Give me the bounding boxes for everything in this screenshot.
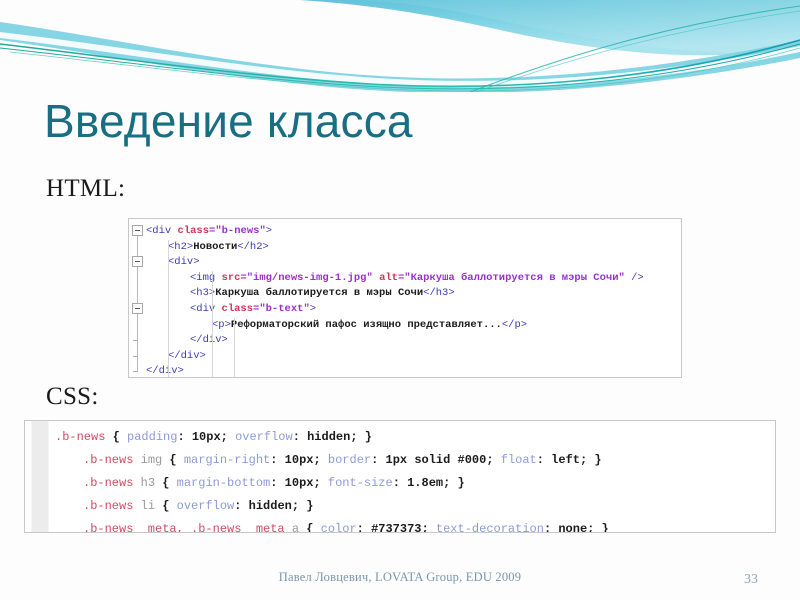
code-token-prop: color <box>321 522 357 533</box>
code-token-brace: ; } <box>292 499 314 513</box>
code-line: <div class="b-news"> <box>146 224 681 240</box>
code-token-tag: </div> <box>190 334 228 346</box>
code-token-sel: .b-news <box>55 430 105 444</box>
css-gutter-strip <box>25 421 55 532</box>
fold-toggle-icon[interactable] <box>132 225 143 236</box>
fold-tick <box>133 371 138 372</box>
fold-toggle-icon[interactable] <box>132 303 143 314</box>
slide-number: 33 <box>744 572 758 588</box>
code-token-brace: { <box>155 499 177 513</box>
code-token-brace: ; } <box>580 453 602 467</box>
code-token-prop: text-decoration <box>436 522 544 533</box>
code-token-brace: ; } <box>443 476 465 490</box>
code-line: <h3>Каркуша баллотируется в мэры Сочи</h… <box>146 286 681 302</box>
indent-guide <box>212 271 213 378</box>
code-token-tag: </h2> <box>237 241 269 253</box>
code-token-prop: font-size <box>328 476 393 490</box>
code-token-tag: <h2> <box>168 241 193 253</box>
code-token-brace: ; } <box>587 522 609 533</box>
code-token-prop: border <box>328 453 371 467</box>
code-token-text: Каркуша баллотируется в мэры Сочи <box>215 287 423 299</box>
code-token-tag: </div> <box>146 365 184 377</box>
html-section-label: HTML: <box>46 175 125 203</box>
code-token-attr: class <box>178 225 210 237</box>
code-line: <p>Реформаторский пафос изящно представл… <box>146 318 681 334</box>
code-token-elem: img <box>133 453 162 467</box>
code-token-brace: { <box>105 430 127 444</box>
code-token-value: 1px solid #000 <box>386 453 487 467</box>
code-token-value: 10px <box>285 453 314 467</box>
code-token-sel: .b-news <box>83 453 133 467</box>
code-token-value: 10px <box>192 430 221 444</box>
code-token-brace: { <box>155 476 177 490</box>
css-code-lines: .b-news { padding: 10px; overflow: hidde… <box>55 421 775 532</box>
code-token-tag: <img <box>190 272 222 284</box>
code-line: <div class="b-text"> <box>146 302 681 318</box>
fold-connector-line <box>137 230 138 372</box>
indent-guide <box>234 318 235 378</box>
code-line: <div> <box>146 255 681 271</box>
html-fold-gutter[interactable] <box>129 219 146 377</box>
code-token-tag: <div> <box>168 256 200 268</box>
css-code-block[interactable]: .b-news { padding: 10px; overflow: hidde… <box>24 420 776 533</box>
code-token-brace: : <box>371 453 385 467</box>
code-token-brace: : <box>234 499 248 513</box>
code-token-value: 10px <box>285 476 314 490</box>
code-token-elem: a <box>285 522 299 533</box>
code-token-sel: .b-news <box>83 499 133 513</box>
code-token-val: ="Каркуша баллотируется в мэры Сочи" <box>398 272 625 284</box>
code-token-brace: { <box>299 522 321 533</box>
css-section-label: CSS: <box>46 383 99 411</box>
code-line: <h2>Новости</h2> <box>146 240 681 256</box>
code-token-tag: <div <box>190 303 222 315</box>
code-token-value: hidden <box>249 499 292 513</box>
fold-tick <box>133 340 138 341</box>
code-token-brace: : <box>357 522 371 533</box>
code-token-value: none <box>558 522 587 533</box>
code-token-tag: </div> <box>168 350 206 362</box>
code-token-tag: <p> <box>212 319 231 331</box>
code-token-value: 1.8em <box>407 476 443 490</box>
code-line: </div> <box>146 349 681 365</box>
code-token-brace: ; <box>313 453 327 467</box>
code-token-prop: overflow <box>235 430 293 444</box>
fold-toggle-icon[interactable] <box>132 256 143 267</box>
html-code-lines: <div class="b-news"><h2>Новости</h2><div… <box>146 219 681 377</box>
code-token-brace: : <box>293 430 307 444</box>
page-title: Введение класса <box>44 97 413 146</box>
code-token-brace: : <box>537 453 551 467</box>
code-token-brace: : <box>270 476 284 490</box>
code-token-attr: alt <box>379 272 398 284</box>
code-token-val: ="img/news-img-1.jpg" <box>240 272 372 284</box>
code-token-tag: /> <box>625 272 644 284</box>
code-token-prop: margin-right <box>184 453 270 467</box>
code-token-attr: src <box>222 272 241 284</box>
code-token-elem: h3 <box>133 476 155 490</box>
code-token-prop: margin-bottom <box>177 476 271 490</box>
code-line: .b-news h3 { margin-bottom: 10px; font-s… <box>55 472 775 495</box>
code-line: .b-news li { overflow: hidden; } <box>55 495 775 518</box>
indent-guide <box>168 240 169 378</box>
code-token-brace: ; <box>486 453 500 467</box>
code-line: <img src="img/news-img-1.jpg" alt="Карку… <box>146 271 681 287</box>
code-token-value: left <box>551 453 580 467</box>
code-token-sel: .b-news <box>83 476 133 490</box>
code-token-text: Реформаторский пафос изящно представляет… <box>231 319 502 331</box>
code-token-brace: ; <box>313 476 327 490</box>
code-line: .b-news { padding: 10px; overflow: hidde… <box>55 426 775 449</box>
code-token-brace: ; } <box>350 430 372 444</box>
code-token-brace: ; <box>221 430 235 444</box>
code-token-prop: overflow <box>177 499 235 513</box>
html-code-block[interactable]: <div class="b-news"><h2>Новости</h2><div… <box>128 218 682 378</box>
code-token-elem: li <box>133 499 155 513</box>
code-token-val: ="b-news" <box>209 225 266 237</box>
code-token-brace: : <box>177 430 191 444</box>
code-token-prop: float <box>501 453 537 467</box>
code-token-tag: > <box>266 225 272 237</box>
code-token-attr: class <box>222 303 254 315</box>
code-line: .b-news__meta, .b-news__meta a { color: … <box>55 518 775 533</box>
code-token-value: hidden <box>307 430 350 444</box>
code-token-sel: .b-news__meta, .b-news__meta <box>83 522 285 533</box>
code-token-tag: > <box>310 303 316 315</box>
footer-credit: Павел Ловцевич, LOVATA Group, EDU 2009 <box>0 570 800 585</box>
code-token-val: ="b-text" <box>253 303 310 315</box>
code-token-brace: : <box>270 453 284 467</box>
code-token-tag: <div <box>146 225 178 237</box>
code-line: </div> <box>146 333 681 349</box>
code-token-tag: </p> <box>502 319 527 331</box>
code-line: </div> <box>146 364 681 378</box>
code-token-tag: </h3> <box>423 287 455 299</box>
code-token-prop: padding <box>127 430 177 444</box>
code-token-brace: { <box>162 453 184 467</box>
code-token-brace: ; <box>422 522 436 533</box>
header-decoration <box>0 0 800 92</box>
code-token-value: #737373 <box>371 522 421 533</box>
code-token-brace: : <box>393 476 407 490</box>
code-token-brace: : <box>544 522 558 533</box>
code-token-text: Новости <box>193 241 237 253</box>
code-line: .b-news img { margin-right: 10px; border… <box>55 449 775 472</box>
fold-tick <box>133 356 138 357</box>
